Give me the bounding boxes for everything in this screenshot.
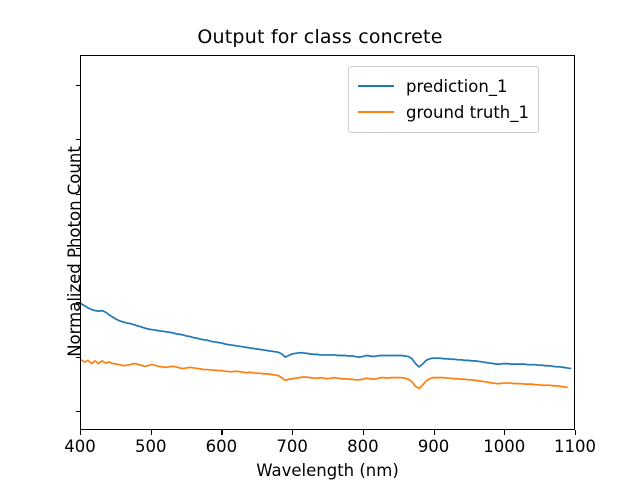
series-line	[81, 304, 570, 369]
x-tick-mark	[292, 430, 293, 435]
chart-title: Output for class concrete	[0, 26, 640, 48]
figure-canvas: Output for class concrete 0.000.100.200.…	[0, 0, 640, 480]
legend-color-swatch	[358, 85, 394, 87]
y-axis-label: Normalized Photon Count	[65, 64, 84, 439]
x-tick-mark	[151, 430, 152, 435]
x-tick-label: 1100	[554, 437, 596, 456]
x-tick-mark	[504, 430, 505, 435]
x-tick-label: 700	[276, 437, 308, 456]
legend-label: ground truth_1	[406, 103, 529, 122]
chart-legend: prediction_1ground truth_1	[348, 66, 539, 133]
x-tick-mark	[434, 430, 435, 435]
legend-color-swatch	[358, 111, 394, 113]
x-tick-label: 900	[418, 437, 450, 456]
x-axis-label: Wavelength (nm)	[80, 461, 575, 480]
x-tick-mark	[363, 430, 364, 435]
x-tick-label: 600	[206, 437, 238, 456]
x-tick-label: 1000	[483, 437, 525, 456]
x-tick-label: 500	[135, 437, 167, 456]
legend-item: ground truth_1	[358, 99, 529, 125]
x-tick-label: 400	[64, 437, 96, 456]
x-tick-mark	[575, 430, 576, 435]
x-tick-label: 800	[347, 437, 379, 456]
legend-item: prediction_1	[358, 73, 529, 99]
x-tick-mark	[221, 430, 222, 435]
legend-label: prediction_1	[406, 77, 508, 96]
